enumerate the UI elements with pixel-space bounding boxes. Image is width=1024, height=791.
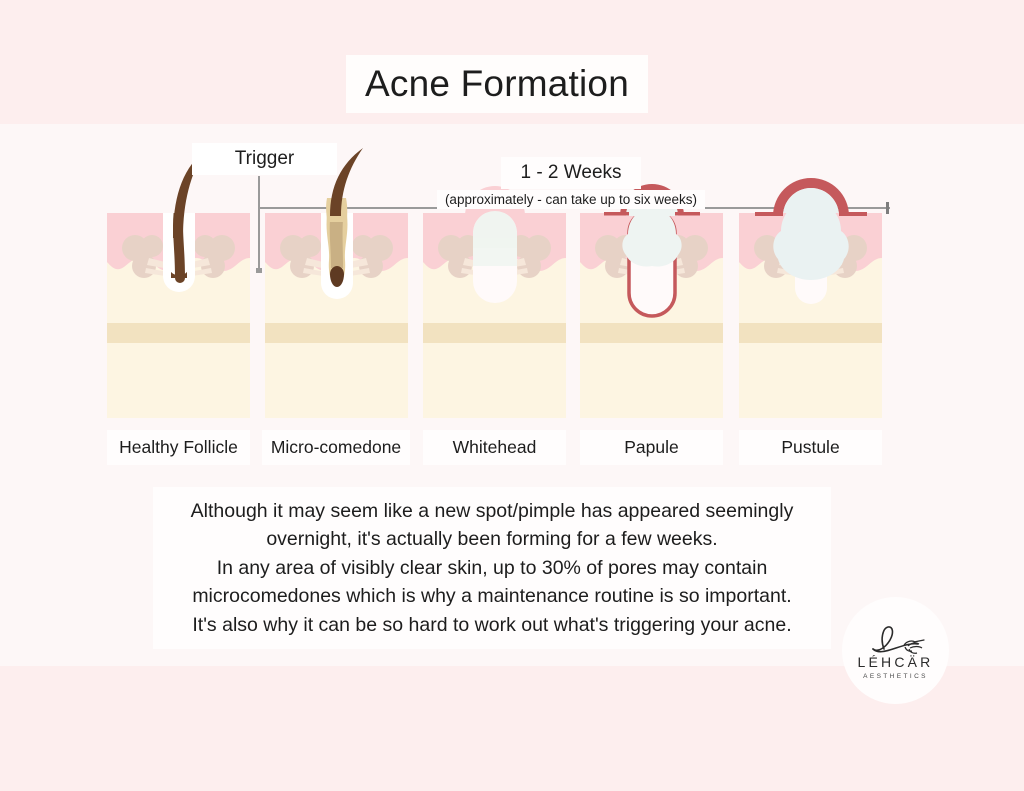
stage-label-text: Pustule (781, 437, 839, 458)
stage-diagram-micro-comedone (265, 213, 408, 418)
stage-label-micro-comedone: Micro-comedone (262, 430, 410, 465)
description-line-3: In any area of visibly clear skin, up to… (217, 554, 768, 583)
stage-label-healthy-follicle: Healthy Follicle (107, 430, 250, 465)
stage-diagram-whitehead (423, 213, 566, 418)
stage-label-text: Micro-comedone (271, 437, 401, 458)
stage-label-text: Whitehead (453, 437, 537, 458)
stage-diagram-papule (580, 213, 723, 418)
stage-label-pustule: Pustule (739, 430, 882, 465)
stage-diagram-pustule (739, 213, 882, 418)
stage-diagram-healthy-follicle (107, 213, 250, 418)
stage-label-whitehead: Whitehead (423, 430, 566, 465)
logo-tagline: AESTHETICS (842, 673, 949, 680)
logo-mark-icon (842, 597, 949, 704)
trigger-label: Trigger (192, 143, 337, 175)
duration-note: (approximately - can take up to six week… (437, 190, 705, 209)
duration-note-text: (approximately - can take up to six week… (445, 192, 697, 207)
logo-brand-name: LÉHCÄR (842, 654, 949, 670)
description-line-5: It's also why it can be so hard to work … (192, 611, 791, 640)
duration-label: 1 - 2 Weeks (501, 157, 641, 189)
duration-label-text: 1 - 2 Weeks (520, 162, 621, 184)
skin-cross-section-2 (247, 138, 427, 423)
stage-label-papule: Papule (580, 430, 723, 465)
description-panel: Although it may seem like a new spot/pim… (153, 487, 831, 649)
infographic-canvas: Acne Formation Trigger 1 - 2 Weeks (appr… (0, 0, 1024, 791)
stage-label-text: Healthy Follicle (119, 437, 238, 458)
stage-label-text: Papule (624, 437, 679, 458)
description-line-4: microcomedones which is why a maintenanc… (192, 582, 791, 611)
trigger-label-text: Trigger (235, 148, 294, 170)
description-line-1: Although it may seem like a new spot/pim… (191, 497, 794, 526)
skin-cross-section-5 (721, 138, 901, 423)
description-line-2: overnight, it's actually been forming fo… (266, 525, 717, 554)
skin-cross-section-1 (89, 138, 269, 423)
brand-logo: LÉHCÄR AESTHETICS (842, 597, 949, 704)
